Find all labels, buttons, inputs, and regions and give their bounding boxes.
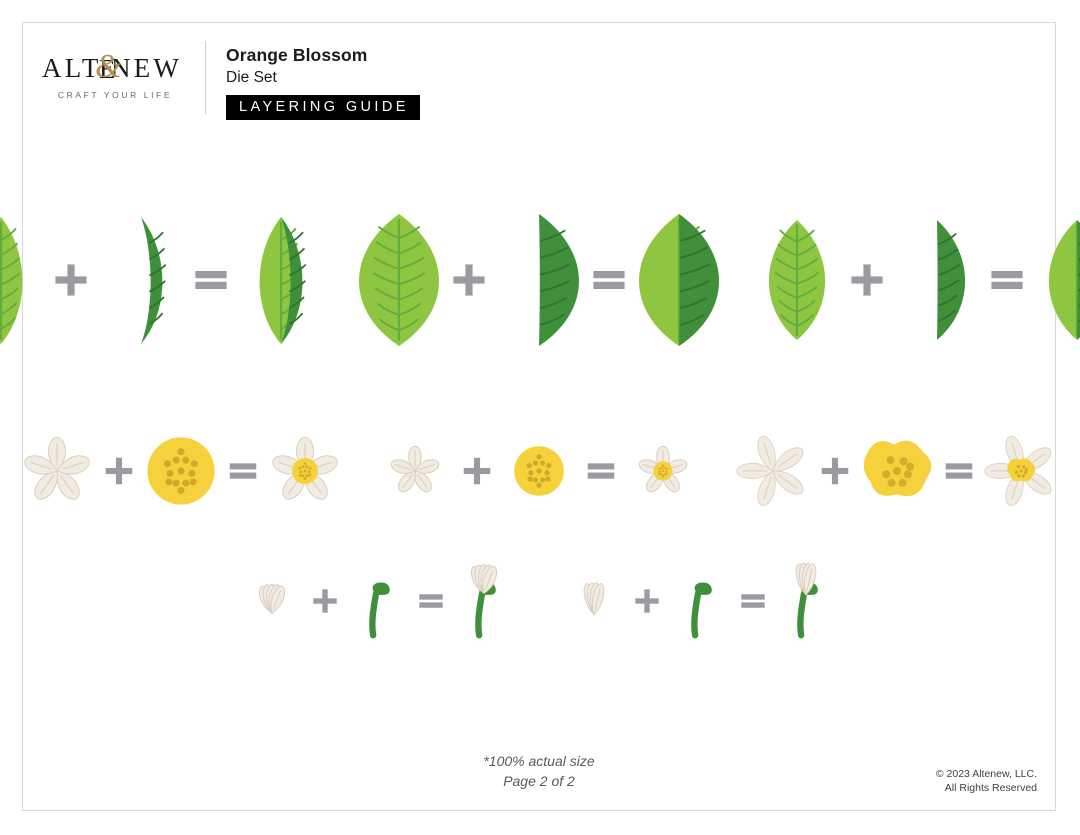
combined-leaf-medium-icon — [1041, 216, 1080, 344]
plus-operator — [460, 454, 494, 488]
blossom-petals-small-icon — [384, 440, 446, 502]
light-leaf-narrow-icon — [0, 213, 32, 348]
equals-icon — [191, 260, 231, 300]
bud-assembled-open-icon — [446, 562, 522, 640]
header: ALT NEW E & CRAFT YOUR LIFE Orange Bloss… — [39, 33, 420, 120]
equals-operator — [191, 260, 231, 300]
blossom-assembled-large-icon — [263, 429, 347, 513]
plus-icon — [847, 260, 887, 300]
logo-tagline: CRAFT YOUR LIFE — [39, 90, 191, 100]
scale-note: *100% actual size — [23, 751, 1055, 771]
blossom-center-small — [496, 440, 582, 502]
product-type: Die Set — [226, 68, 420, 89]
bud-petals-open — [234, 562, 310, 640]
blossom-center-cluster-icon — [854, 421, 940, 521]
page-note: Page 2 of 2 — [23, 771, 1055, 791]
equals-operator — [942, 454, 976, 488]
bud-petals-closed — [556, 562, 632, 640]
blossom-assembled-open — [978, 421, 1064, 521]
svg-text:&: & — [95, 48, 122, 85]
leaf-group-1 — [0, 213, 327, 348]
bud-assembled-closed — [768, 562, 844, 640]
dark-half-leaf-wide — [493, 210, 585, 350]
light-leaf-wide-icon — [356, 210, 442, 350]
combined-leaf-narrow — [235, 213, 327, 348]
bud-assembled-closed-icon — [768, 562, 844, 640]
plus-icon — [460, 454, 494, 488]
footer-center-note: *100% actual size Page 2 of 2 — [23, 751, 1055, 792]
plus-icon — [51, 260, 91, 300]
blossom-center-large-icon — [139, 429, 223, 513]
equals-icon — [738, 586, 768, 616]
title-block: Orange Blossom Die Set LAYERING GUIDE — [206, 33, 420, 120]
light-leaf-medium-icon — [761, 216, 833, 344]
row-flowers — [23, 411, 1055, 531]
equals-operator — [226, 454, 260, 488]
equals-icon — [589, 260, 629, 300]
copyright-line-2: All Rights Reserved — [936, 781, 1037, 795]
equals-operator — [589, 260, 629, 300]
row-buds — [23, 541, 1055, 661]
bud-stem-closed — [662, 562, 738, 640]
blossom-assembled-small — [620, 440, 706, 502]
footer-copyright: © 2023 Altenew, LLC. All Rights Reserved — [936, 767, 1037, 795]
plus-operator — [310, 586, 340, 616]
equals-icon — [987, 260, 1027, 300]
dark-half-leaf-medium — [891, 216, 983, 344]
combined-leaf-medium — [1031, 216, 1080, 344]
altenew-logo: ALT NEW E & CRAFT YOUR LIFE — [39, 33, 191, 100]
leaf-group-2 — [353, 210, 725, 350]
light-leaf-narrow — [0, 213, 47, 348]
blossom-petals-large-icon — [15, 429, 99, 513]
dark-half-leaf-wide-icon — [496, 210, 582, 350]
plus-icon — [102, 454, 136, 488]
equals-icon — [942, 454, 976, 488]
bud-stem-open-icon — [340, 562, 416, 640]
flower-group-3 — [730, 421, 1064, 521]
blossom-petals-large — [14, 429, 100, 513]
bud-stem-open — [340, 562, 416, 640]
blossom-petals-open — [730, 421, 816, 521]
plus-operator — [818, 454, 852, 488]
blossom-petals-small — [372, 440, 458, 502]
plus-icon — [449, 260, 489, 300]
svg-text:ALT: ALT — [42, 53, 102, 83]
blossom-assembled-large — [262, 429, 348, 513]
altenew-wordmark-icon: ALT NEW E & — [39, 47, 191, 87]
svg-text:NEW: NEW — [111, 53, 182, 83]
flower-group-1 — [14, 429, 348, 513]
blossom-center-large — [138, 429, 224, 513]
blossom-center-cluster — [854, 421, 940, 521]
equals-operator — [584, 454, 618, 488]
plus-icon — [632, 586, 662, 616]
combined-leaf-wide-icon — [636, 210, 722, 350]
logo-wordmark: ALT NEW E & — [39, 47, 191, 87]
combined-leaf-narrow-icon — [250, 213, 312, 348]
equals-icon — [226, 454, 260, 488]
plus-operator — [632, 586, 662, 616]
bud-group-1 — [234, 562, 522, 640]
layering-guide-badge: LAYERING GUIDE — [226, 95, 420, 121]
equals-operator — [738, 586, 768, 616]
plus-icon — [818, 454, 852, 488]
bud-petals-open-icon — [234, 562, 310, 640]
blossom-petals-open-icon — [730, 421, 816, 521]
flower-group-2 — [372, 440, 706, 502]
light-leaf-wide — [353, 210, 445, 350]
row-leaves — [23, 195, 1055, 365]
dark-crescent-narrow — [95, 213, 187, 348]
blossom-assembled-open-icon — [978, 421, 1064, 521]
copyright-line-1: © 2023 Altenew, LLC. — [936, 767, 1037, 781]
bud-petals-closed-icon — [556, 562, 632, 640]
leaf-group-3 — [751, 216, 1080, 344]
light-leaf-medium — [751, 216, 843, 344]
guide-page: ALT NEW E & CRAFT YOUR LIFE Orange Bloss… — [22, 22, 1056, 811]
plus-operator — [102, 454, 136, 488]
blossom-center-small-icon — [508, 440, 570, 502]
bud-stem-closed-icon — [662, 562, 738, 640]
product-name: Orange Blossom — [226, 45, 420, 67]
plus-operator — [51, 260, 91, 300]
bud-group-2 — [556, 562, 844, 640]
plus-icon — [310, 586, 340, 616]
bud-assembled-open — [446, 562, 522, 640]
equals-icon — [416, 586, 446, 616]
plus-operator — [449, 260, 489, 300]
equals-icon — [584, 454, 618, 488]
combined-leaf-wide — [633, 210, 725, 350]
blossom-assembled-small-icon — [632, 440, 694, 502]
equals-operator — [987, 260, 1027, 300]
equals-operator — [416, 586, 446, 616]
dark-crescent-narrow-icon — [110, 213, 172, 348]
dark-half-leaf-medium-icon — [901, 216, 973, 344]
plus-operator — [847, 260, 887, 300]
